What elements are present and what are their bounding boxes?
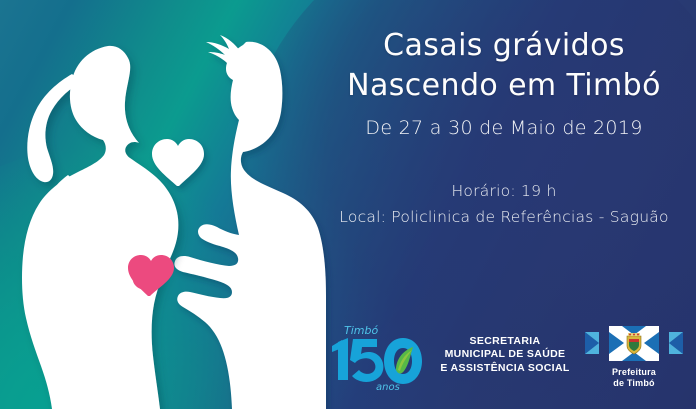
- timbo-150-anos-logo: Timbó anos: [330, 318, 422, 392]
- event-poster: Casais grávidos Nascendo em Timbó De 27 …: [0, 0, 696, 409]
- couple-illustration: [0, 0, 350, 409]
- logo-city-text: Timbó: [344, 324, 378, 337]
- secretaria-wordmark: SECRETARIA MUNICIPAL DE SAÚDE E ASSISTÊN…: [430, 335, 580, 376]
- secretaria-line-1: SECRETARIA: [430, 335, 580, 349]
- man-silhouette: [174, 35, 326, 409]
- coat-of-arms-icon: [627, 333, 641, 354]
- logo-anos-text: anos: [376, 382, 400, 392]
- event-details: Horário: 19 h Local: Policlinica de Refe…: [318, 178, 690, 230]
- event-date: De 27 a 30 de Maio de 2019: [318, 116, 690, 140]
- prefeitura-line-2: de Timbó: [584, 378, 684, 389]
- prefeitura-timbo-logo: Prefeitura de Timbó: [584, 320, 684, 390]
- logo-bar: Timbó anos SECRETAR: [330, 312, 692, 398]
- white-heart: [152, 139, 204, 186]
- secretaria-line-3: E ASSISTÊNCIA SOCIAL: [430, 362, 580, 376]
- headline-line-1: Casais grávidos: [318, 26, 690, 66]
- prefeitura-wordmark: Prefeitura de Timbó: [584, 367, 684, 388]
- poster-text-block: Casais grávidos Nascendo em Timbó De 27 …: [318, 26, 690, 230]
- headline-line-2: Nascendo em Timbó: [318, 66, 690, 106]
- prefeitura-line-1: Prefeitura: [584, 367, 684, 378]
- right-bowtie-icon: [669, 332, 683, 354]
- left-bowtie-icon: [585, 332, 599, 354]
- secretaria-line-2: MUNICIPAL DE SAÚDE: [430, 348, 580, 362]
- pregnant-woman-silhouette: [22, 46, 178, 409]
- timbo-flag-icon: [609, 326, 659, 361]
- event-location: Local: Policlinica de Referências - Sagu…: [318, 204, 690, 230]
- event-time: Horário: 19 h: [318, 178, 690, 204]
